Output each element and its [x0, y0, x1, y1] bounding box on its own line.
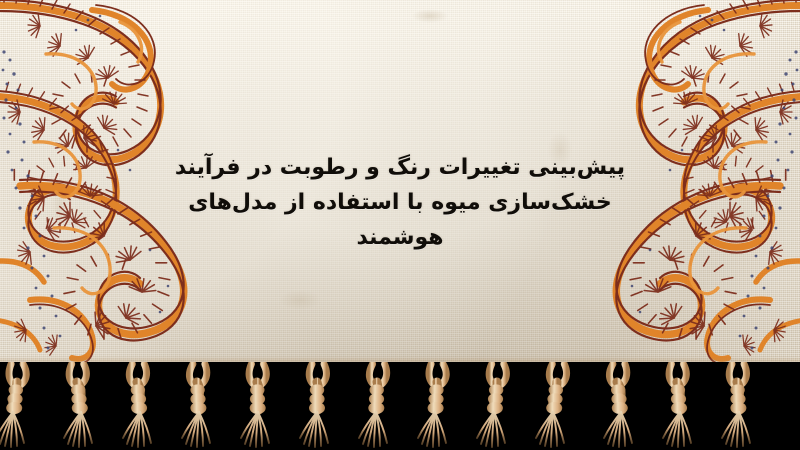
- slide-title: پیش‌بینی تغییرات رنگ و رطوبت در فرآیند خ…: [0, 150, 800, 255]
- tassel: [235, 362, 281, 448]
- tassel: [535, 362, 581, 448]
- tassel: [595, 362, 641, 448]
- tassel: [715, 362, 761, 448]
- tassel-fringe: [0, 362, 800, 450]
- tassel: [655, 362, 701, 448]
- tassel: [415, 362, 461, 448]
- slide-title-line-1: پیش‌بینی تغییرات رنگ و رطوبت در فرآیند: [0, 150, 800, 185]
- tassel: [0, 362, 41, 448]
- tassel: [475, 362, 521, 448]
- tassel: [115, 362, 161, 448]
- tassel: [355, 362, 401, 448]
- tassel: [295, 362, 341, 448]
- tassel: [55, 362, 101, 448]
- slide-title-line-3: هوشمند: [0, 220, 800, 255]
- slide-canvas: پیش‌بینی تغییرات رنگ و رطوبت در فرآیند خ…: [0, 0, 800, 450]
- slide-title-line-2: خشک‌سازی میوه با استفاده از مدل‌های: [0, 185, 800, 220]
- tassel: [175, 362, 221, 448]
